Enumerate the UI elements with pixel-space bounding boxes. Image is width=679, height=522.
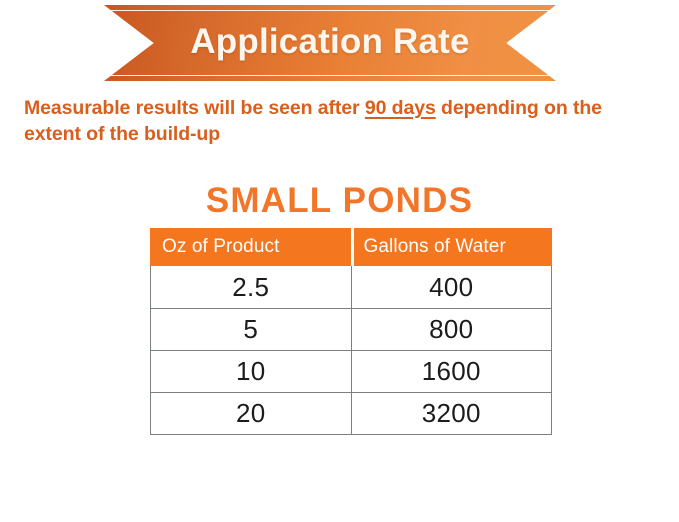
reed-blade bbox=[53, 383, 70, 485]
reed-blade bbox=[59, 437, 70, 496]
reed-blade bbox=[22, 375, 33, 493]
reed-blade bbox=[20, 429, 40, 514]
reed-blade bbox=[75, 421, 96, 507]
reed-blade bbox=[83, 386, 103, 485]
application-rate-infographic: Application Rate Measurable results will… bbox=[0, 0, 679, 522]
cell-oz: 20 bbox=[151, 393, 352, 434]
reed-blade bbox=[6, 460, 19, 513]
reed-blade bbox=[4, 407, 25, 514]
reed-blade bbox=[103, 455, 107, 514]
reed-blade bbox=[0, 407, 18, 483]
table-row: 203200 bbox=[151, 392, 551, 434]
cell-oz: 2.5 bbox=[151, 266, 352, 308]
reed-blade bbox=[48, 446, 59, 506]
cell-oz: 10 bbox=[151, 351, 352, 392]
reed-blade bbox=[92, 453, 95, 488]
reed-blade bbox=[62, 438, 76, 512]
reed-blade bbox=[75, 386, 86, 493]
reed-blade bbox=[66, 396, 93, 495]
reed-blade bbox=[53, 464, 66, 506]
reed-blade bbox=[82, 438, 98, 494]
reed-blade bbox=[109, 471, 117, 511]
reed-blade bbox=[0, 418, 7, 500]
reed-blade bbox=[72, 462, 81, 500]
cell-gallons: 400 bbox=[352, 266, 552, 308]
table-row: 2.5400 bbox=[151, 266, 551, 308]
reed-blade bbox=[83, 467, 92, 506]
reed-blade bbox=[115, 467, 122, 513]
reed-blade bbox=[115, 460, 129, 510]
reed-grass-clump bbox=[0, 300, 160, 522]
reed-blade bbox=[32, 449, 38, 497]
reed-blade bbox=[0, 427, 16, 505]
reed-blade bbox=[91, 460, 95, 500]
reed-blade bbox=[26, 388, 56, 500]
table-row: 5800 bbox=[151, 308, 551, 350]
reed-blade bbox=[49, 419, 59, 508]
reed-blade bbox=[37, 449, 45, 484]
reed-blade bbox=[70, 392, 74, 504]
reed-blade bbox=[90, 417, 107, 495]
cell-oz: 5 bbox=[151, 309, 352, 350]
reed-blade bbox=[72, 373, 99, 484]
reed-blade bbox=[7, 423, 15, 489]
reed-blade bbox=[74, 422, 77, 482]
reed-blade bbox=[94, 436, 99, 483]
reed-blade bbox=[70, 453, 73, 488]
reed-blade bbox=[21, 397, 41, 487]
cell-gallons: 800 bbox=[352, 309, 552, 350]
reed-blade bbox=[40, 422, 43, 483]
reed-blade bbox=[122, 387, 152, 494]
reed-blade bbox=[72, 415, 86, 488]
section-title-small-ponds: SMALL PONDS bbox=[0, 181, 679, 221]
table-header-row: Oz of Product Gallons of Water bbox=[150, 228, 552, 266]
application-rate-table: Oz of Product Gallons of Water 2.5400580… bbox=[150, 228, 552, 435]
reed-blade bbox=[27, 462, 33, 506]
reed-blade bbox=[80, 400, 84, 495]
header-ribbon: Application Rate bbox=[104, 5, 556, 81]
reed-blade bbox=[80, 393, 86, 487]
reed-blade bbox=[8, 442, 13, 488]
reed-blade bbox=[2, 438, 16, 490]
page-title: Application Rate bbox=[104, 5, 556, 81]
subtitle-lead: Measurable results will be seen after bbox=[24, 97, 365, 119]
reed-blade bbox=[72, 456, 77, 490]
reed-blade bbox=[49, 423, 59, 486]
reed-blade bbox=[0, 411, 13, 512]
reed-blade bbox=[27, 464, 42, 514]
reed-blade bbox=[25, 412, 31, 490]
reed-blade bbox=[84, 459, 93, 500]
reed-blade bbox=[97, 380, 114, 493]
reed-blade bbox=[120, 427, 127, 483]
reed-blade bbox=[71, 426, 75, 506]
reed-blade bbox=[60, 474, 67, 516]
reed-blade bbox=[68, 445, 71, 497]
reed-blade bbox=[73, 370, 88, 483]
reed-blade bbox=[102, 412, 117, 491]
reed-blade bbox=[88, 474, 93, 511]
reed-blade bbox=[117, 383, 141, 497]
reed-blade bbox=[96, 430, 105, 495]
reed-blade bbox=[74, 455, 81, 491]
column-header-oz: Oz of Product bbox=[150, 228, 351, 266]
reed-blade bbox=[66, 405, 91, 513]
reed-blade bbox=[32, 423, 56, 514]
reed-blade bbox=[33, 397, 37, 487]
reed-blade bbox=[95, 429, 103, 492]
reed-blade bbox=[54, 441, 56, 507]
reed-blade bbox=[66, 367, 71, 483]
reed-blade bbox=[47, 458, 53, 506]
reed-blade bbox=[71, 423, 75, 510]
reed-blade bbox=[115, 382, 117, 485]
subtitle-text: Measurable results will be seen after 90… bbox=[24, 96, 664, 148]
reed-blade bbox=[15, 443, 26, 496]
reed-blade bbox=[91, 398, 111, 508]
reed-blade bbox=[97, 413, 99, 513]
reed-blade bbox=[108, 438, 123, 500]
reed-blade bbox=[56, 405, 74, 495]
reed-blade bbox=[107, 465, 113, 512]
reed-blade bbox=[15, 379, 17, 487]
reed-blade bbox=[101, 430, 103, 512]
table-body: 2.54005800101600203200 bbox=[150, 266, 552, 435]
column-header-gallons: Gallons of Water bbox=[354, 228, 553, 266]
reed-blade bbox=[38, 396, 45, 504]
subtitle-emphasis: 90 days bbox=[365, 97, 436, 119]
reed-blade bbox=[29, 430, 41, 504]
cell-gallons: 1600 bbox=[352, 351, 552, 392]
reed-blade bbox=[120, 414, 126, 510]
cell-gallons: 3200 bbox=[352, 393, 552, 434]
reed-blade bbox=[88, 391, 108, 489]
table-row: 101600 bbox=[151, 350, 551, 392]
reed-blade bbox=[72, 439, 76, 508]
reed-blade bbox=[68, 409, 70, 513]
reed-blade bbox=[15, 448, 21, 501]
reed-blade bbox=[84, 411, 90, 515]
reed-blade bbox=[10, 408, 28, 494]
reed-blade bbox=[6, 444, 11, 484]
reed-blade bbox=[87, 474, 91, 515]
